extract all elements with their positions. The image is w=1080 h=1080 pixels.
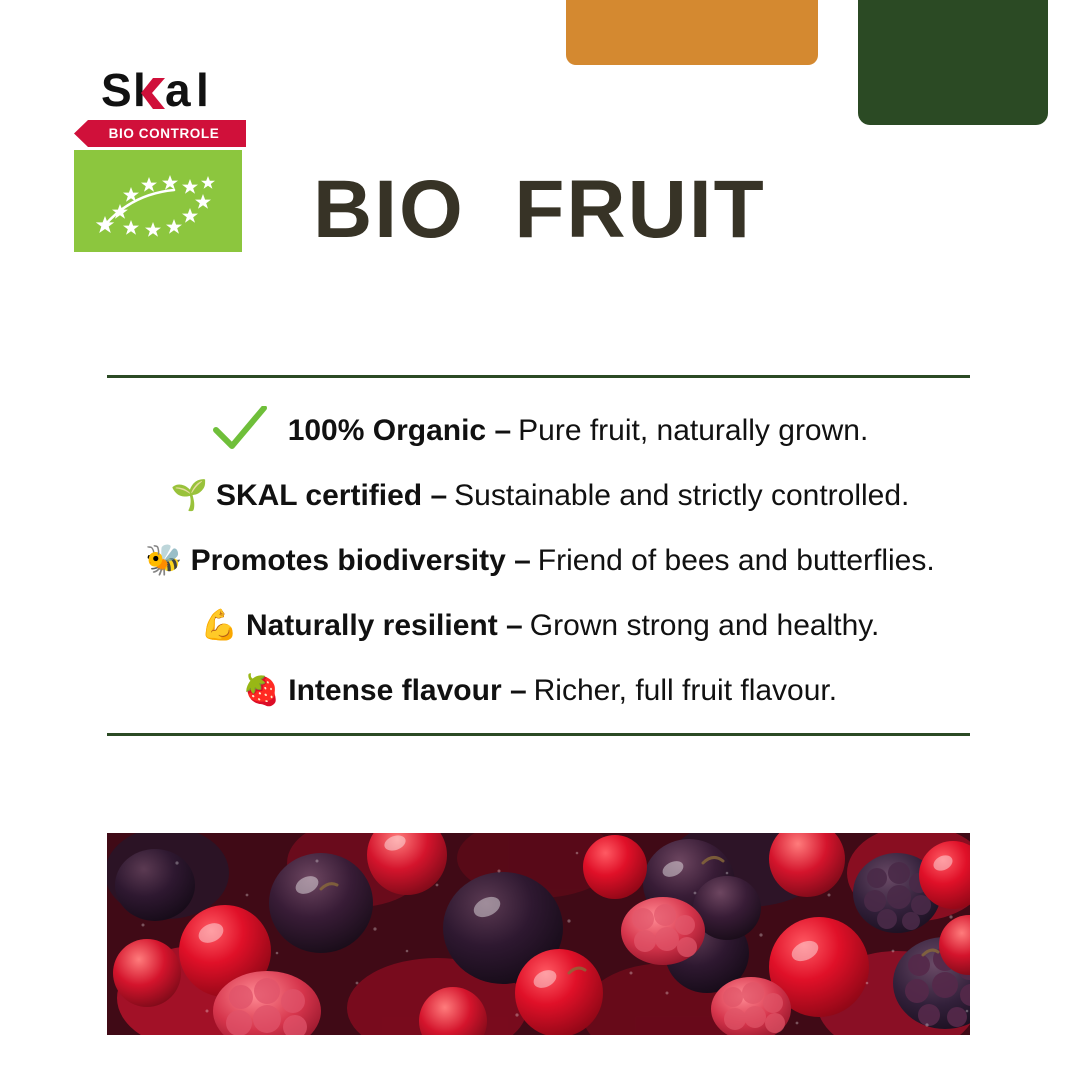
bio-controle-banner: BIO CONTROLE (74, 120, 246, 147)
benefit-description: Richer, full fruit flavour. (534, 674, 837, 708)
svg-text:S: S (101, 66, 132, 114)
benefit-title: Naturally resilient – (246, 609, 523, 643)
benefit-item-biodiversity: 🐝 Promotes biodiversity – Friend of bees… (0, 528, 1080, 593)
svg-text:l: l (196, 66, 209, 114)
seedling-icon: 🌱 (171, 481, 208, 511)
benefit-title: SKAL certified – (216, 479, 447, 513)
bio-controle-label: BIO CONTROLE (74, 120, 246, 147)
benefit-description: Sustainable and strictly controlled. (454, 479, 909, 513)
benefit-title: Intense flavour – (288, 674, 526, 708)
divider-top (107, 375, 970, 378)
eu-organic-leaf-icon (74, 150, 242, 252)
orange-accent-block (566, 0, 818, 65)
benefit-item-organic: 100% Organic – Pure fruit, naturally gro… (0, 398, 1080, 463)
svg-text:a: a (165, 66, 191, 114)
strawberry-icon: 🍓 (243, 676, 280, 706)
check-mark-icon (212, 406, 268, 456)
benefit-title: Promotes biodiversity – (191, 544, 531, 578)
bee-icon: 🐝 (145, 546, 182, 576)
skal-logo: S l a l BIO CONTROLE (74, 66, 246, 252)
benefit-item-resilient: 💪 Naturally resilient – Grown strong and… (0, 593, 1080, 658)
benefit-description: Pure fruit, naturally grown. (518, 414, 868, 448)
flexed-biceps-icon: 💪 (201, 611, 238, 641)
benefit-description: Grown strong and healthy. (530, 609, 880, 643)
skal-wordmark: S l a l (101, 66, 246, 114)
green-accent-block (858, 0, 1048, 125)
benefit-item-flavour: 🍓 Intense flavour – Richer, full fruit f… (0, 658, 1080, 723)
benefit-title: 100% Organic – (288, 414, 511, 448)
page-title: BIO FRUIT (313, 169, 766, 251)
berry-photo (107, 833, 970, 1035)
benefit-item-skal-certified: 🌱 SKAL certified – Sustainable and stric… (0, 463, 1080, 528)
benefits-list: 100% Organic – Pure fruit, naturally gro… (0, 398, 1080, 723)
benefit-description: Friend of bees and butterflies. (538, 544, 935, 578)
divider-bottom (107, 733, 970, 736)
